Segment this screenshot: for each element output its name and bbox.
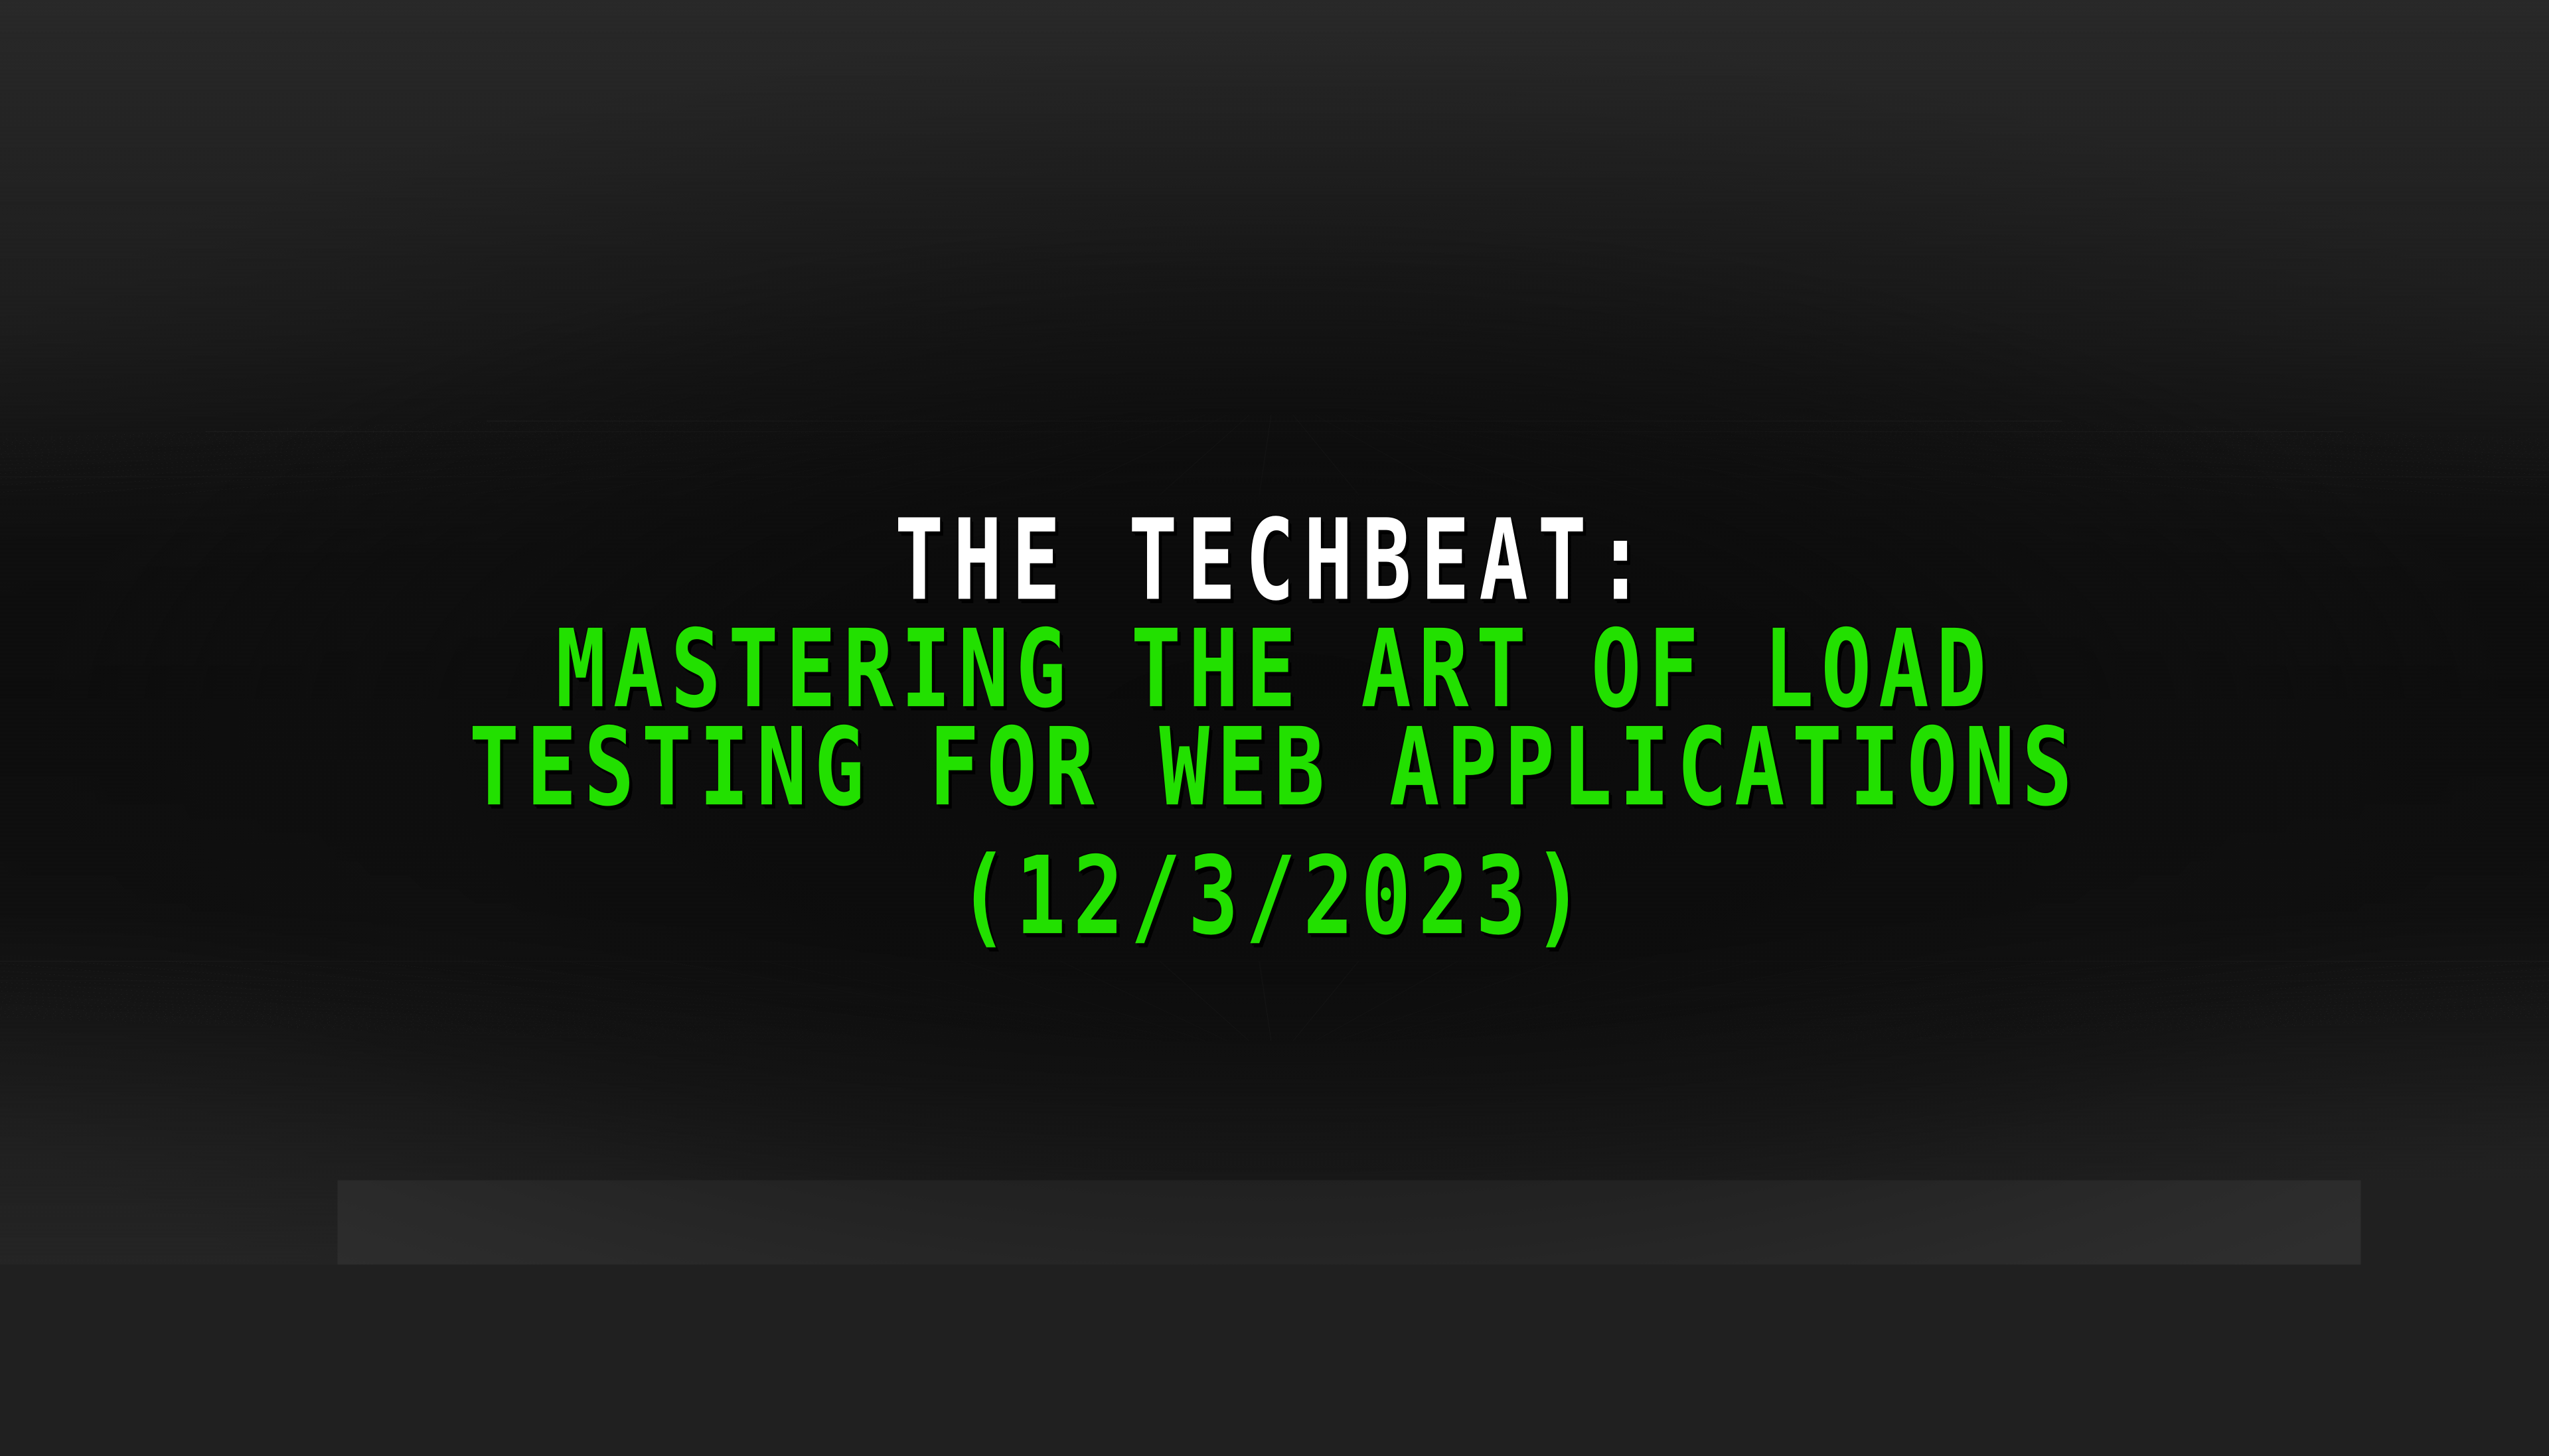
cover-text-block: THE TECHBEAT: MASTERING THE ART OF LOAD … [0, 0, 2549, 1456]
brand-title: THE TECHBEAT: [895, 504, 1655, 616]
cover-canvas: THE TECHBEAT: MASTERING THE ART OF LOAD … [0, 0, 2549, 1456]
publish-date: (12/3/2023) [958, 842, 1590, 950]
headline-line-2: TESTING FOR WEB APPLICATIONS [469, 713, 2080, 821]
